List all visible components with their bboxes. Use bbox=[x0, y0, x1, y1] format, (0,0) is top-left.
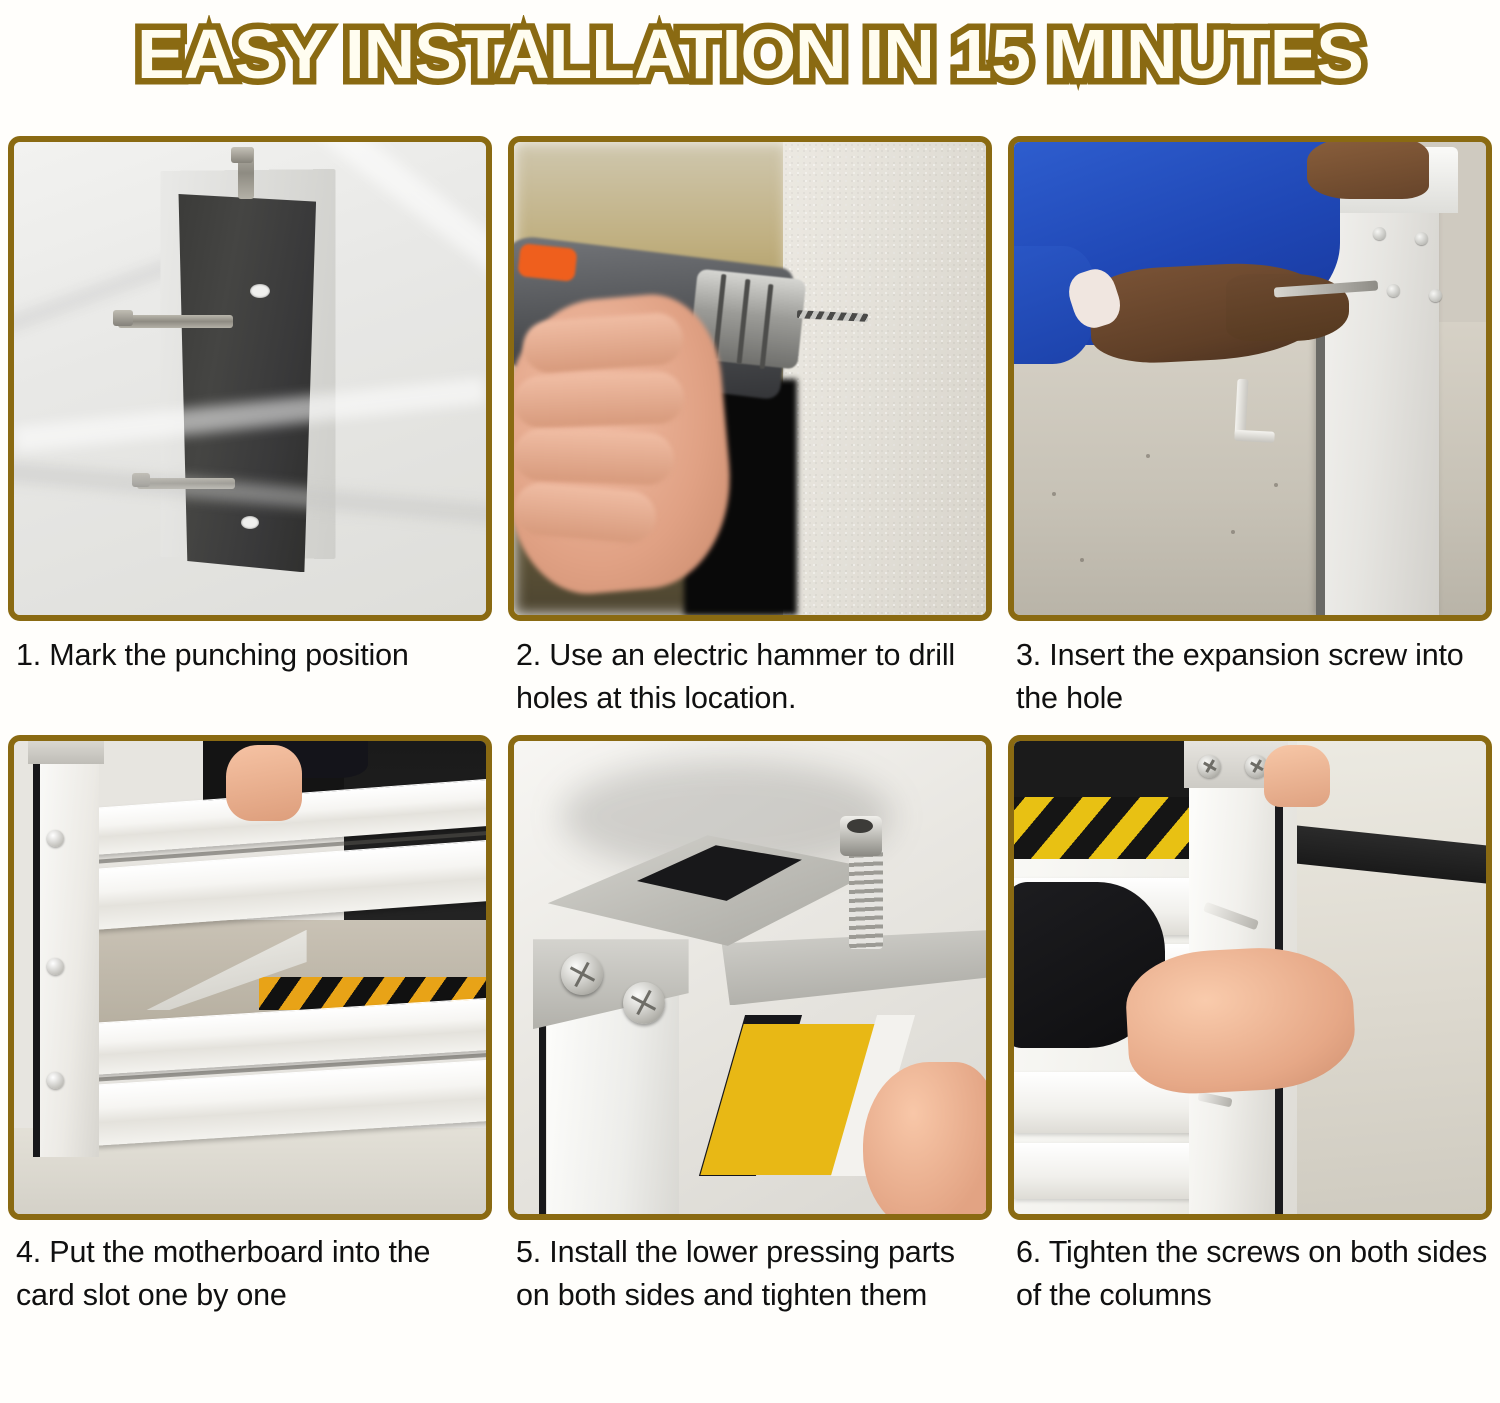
step-card-3: 3. Insert the expansion screw into the h… bbox=[1008, 136, 1492, 721]
step-image-frame-6 bbox=[1008, 735, 1492, 1220]
installation-guide-sheet: EASY INSTALLATION IN 15 MINUTES bbox=[0, 0, 1500, 1403]
step-photo-6 bbox=[1014, 741, 1486, 1214]
step-image-frame-2 bbox=[508, 136, 992, 621]
step-card-6: 6. Tighten the screws on both sides of t… bbox=[1008, 735, 1492, 1318]
steps-grid: 1. Mark the punching position bbox=[8, 136, 1492, 1317]
header-banner: EASY INSTALLATION IN 15 MINUTES bbox=[0, 0, 1500, 108]
phillips-screw-icon bbox=[623, 982, 665, 1024]
step-card-2: 2. Use an electric hammer to drill holes… bbox=[508, 136, 992, 721]
page-title: EASY INSTALLATION IN 15 MINUTES bbox=[137, 19, 1363, 89]
step-caption-6: 6. Tighten the screws on both sides of t… bbox=[1008, 1231, 1492, 1318]
step-photo-2 bbox=[514, 142, 986, 615]
step-photo-5 bbox=[514, 741, 986, 1214]
step-photo-1 bbox=[14, 142, 486, 615]
step-image-frame-1 bbox=[8, 136, 492, 621]
step-card-4: 4. Put the motherboard into the card slo… bbox=[8, 735, 492, 1318]
step-caption-2: 2. Use an electric hammer to drill holes… bbox=[508, 634, 992, 721]
step-caption-5: 5. Install the lower pressing parts on b… bbox=[508, 1231, 992, 1318]
step-image-frame-4 bbox=[8, 735, 492, 1220]
step-caption-1: 1. Mark the punching position bbox=[8, 634, 492, 677]
step-caption-4: 4. Put the motherboard into the card slo… bbox=[8, 1231, 492, 1318]
step-image-frame-3 bbox=[1008, 136, 1492, 621]
step-image-frame-5 bbox=[508, 735, 992, 1220]
step-photo-3 bbox=[1014, 142, 1486, 615]
step-card-5: 5. Install the lower pressing parts on b… bbox=[508, 735, 992, 1318]
step-caption-3: 3. Insert the expansion screw into the h… bbox=[1008, 634, 1492, 721]
step-photo-4 bbox=[14, 741, 486, 1214]
phillips-screw-icon bbox=[1198, 755, 1221, 778]
step-card-1: 1. Mark the punching position bbox=[8, 136, 492, 721]
